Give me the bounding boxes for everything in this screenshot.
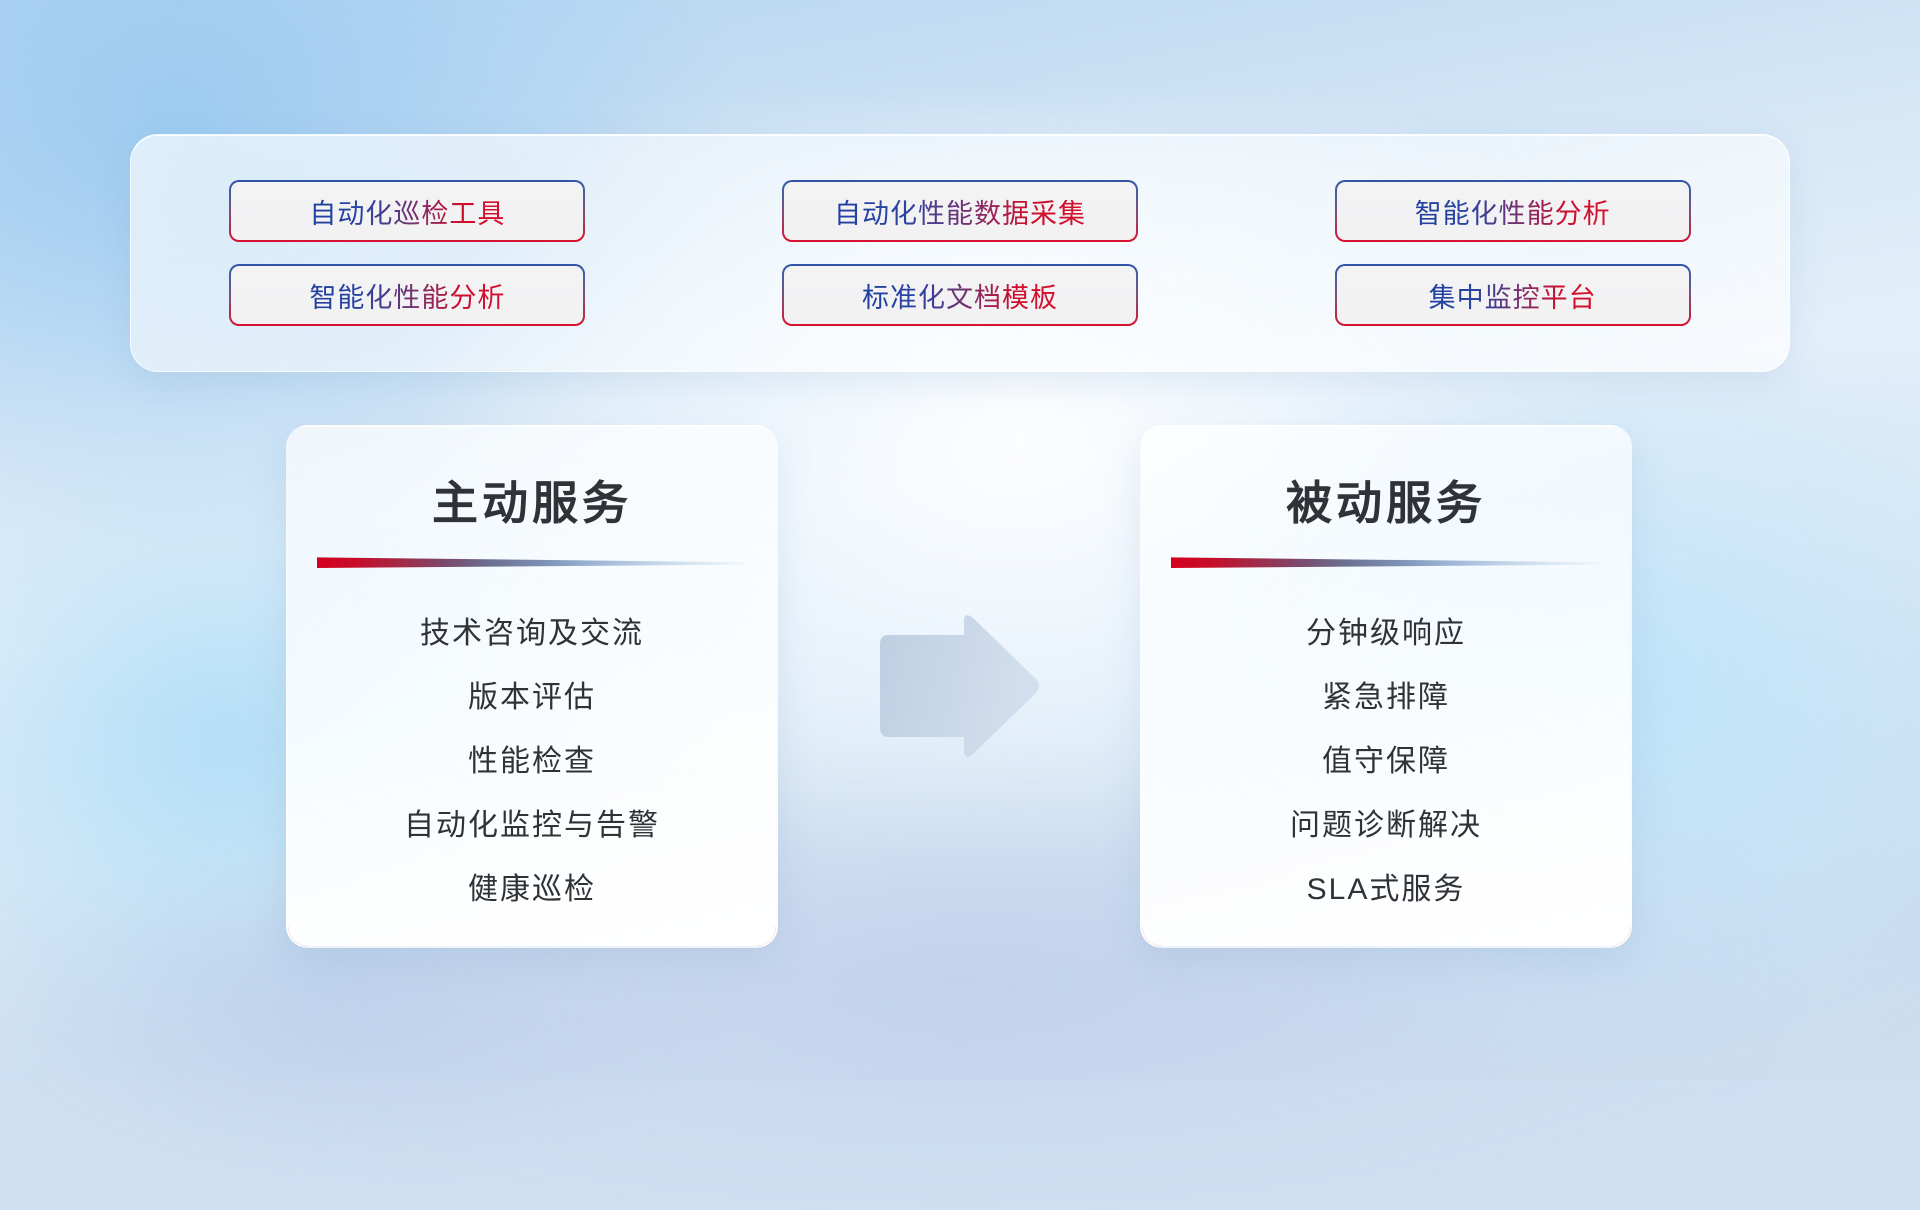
capability-pill-label: 智能化性能分析 bbox=[309, 276, 505, 315]
service-card-proactive: 主动服务 技术咨询及交流 版本评估 性能检查 自动化监控与告警 健康巡检 bbox=[286, 425, 778, 948]
capability-pill-intelligent-performance-analysis-2[interactable]: 智能化性能分析 bbox=[229, 264, 585, 326]
service-list-proactive: 技术咨询及交流 版本评估 性能检查 自动化监控与告警 健康巡检 bbox=[288, 568, 776, 922]
list-item: 自动化监控与告警 bbox=[288, 794, 776, 858]
capability-pill-label: 标准化文档模板 bbox=[862, 276, 1058, 315]
list-item: SLA式服务 bbox=[1142, 858, 1630, 922]
capability-row-2: 智能化性能分析 标准化文档模板 集中监控平台 bbox=[131, 264, 1789, 326]
list-item: 版本评估 bbox=[288, 666, 776, 730]
card-title-proactive: 主动服务 bbox=[288, 427, 776, 533]
card-divider-reactive bbox=[1171, 555, 1601, 568]
card-title-reactive: 被动服务 bbox=[1142, 427, 1630, 533]
capability-pill-label: 自动化巡检工具 bbox=[309, 192, 505, 231]
capability-row-1: 自动化巡检工具 自动化性能数据采集 智能化性能分析 bbox=[131, 180, 1789, 242]
list-item: 紧急排障 bbox=[1142, 666, 1630, 730]
capability-pill-standard-doc-template[interactable]: 标准化文档模板 bbox=[782, 264, 1138, 326]
capability-pill-intelligent-performance-analysis[interactable]: 智能化性能分析 bbox=[1335, 180, 1691, 242]
capability-panel: 自动化巡检工具 自动化性能数据采集 智能化性能分析 智能化性能分析 标准化文档模… bbox=[130, 134, 1790, 372]
capability-pill-auto-inspection-tool[interactable]: 自动化巡检工具 bbox=[229, 180, 585, 242]
list-item: 技术咨询及交流 bbox=[288, 602, 776, 666]
list-item: 值守保障 bbox=[1142, 730, 1630, 794]
list-item: 问题诊断解决 bbox=[1142, 794, 1630, 858]
list-item: 性能检查 bbox=[288, 730, 776, 794]
capability-pill-label: 集中监控平台 bbox=[1429, 276, 1597, 315]
list-item: 分钟级响应 bbox=[1142, 602, 1630, 666]
service-card-reactive: 被动服务 分钟级响应 紧急排障 值守保障 问题诊断解决 SLA式服务 bbox=[1140, 425, 1632, 948]
service-list-reactive: 分钟级响应 紧急排障 值守保障 问题诊断解决 SLA式服务 bbox=[1142, 568, 1630, 922]
card-divider-proactive bbox=[317, 555, 747, 568]
capability-pill-central-monitoring-platform[interactable]: 集中监控平台 bbox=[1335, 264, 1691, 326]
capability-pill-label: 智能化性能分析 bbox=[1415, 192, 1611, 231]
list-item: 健康巡检 bbox=[288, 858, 776, 922]
capability-pill-label: 自动化性能数据采集 bbox=[834, 192, 1086, 231]
arrow-right-icon bbox=[872, 612, 1042, 760]
capability-pill-auto-performance-data-collection[interactable]: 自动化性能数据采集 bbox=[782, 180, 1138, 242]
